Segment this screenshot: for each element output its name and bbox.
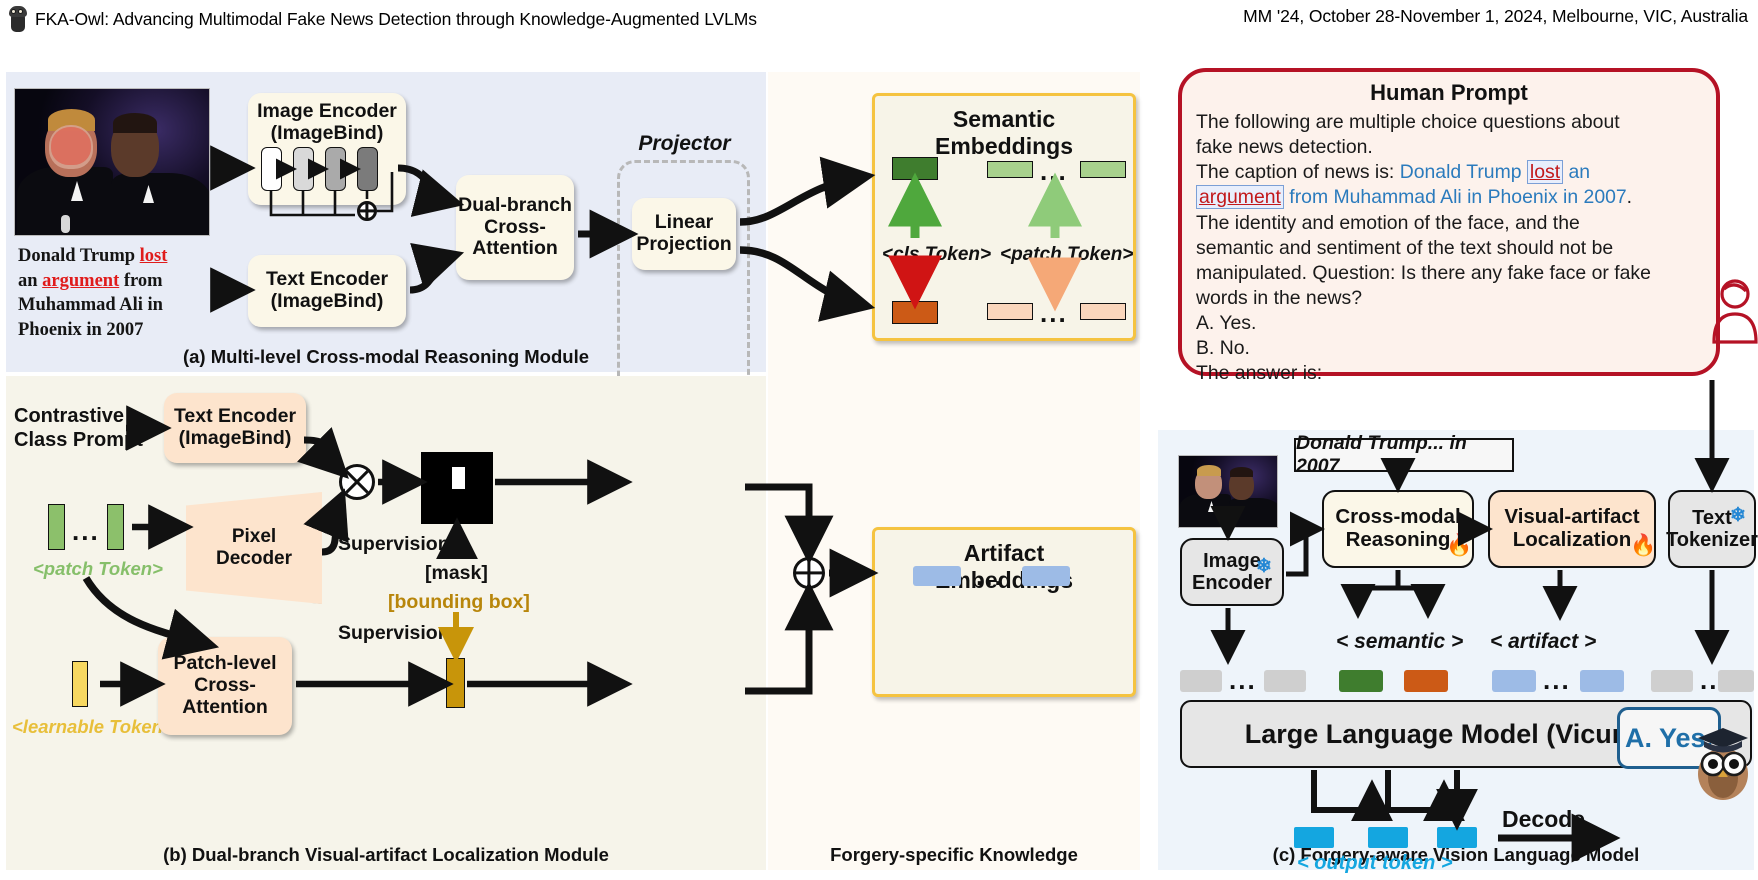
patch-cross-attn-label-2: Cross- xyxy=(194,675,256,697)
patch-token-peach-2 xyxy=(1080,303,1126,320)
encoder-block-2 xyxy=(293,147,314,191)
artifact-tokens-dots: ... xyxy=(1543,667,1571,693)
human-avatar-icon xyxy=(1712,278,1758,344)
patch-token-label-b: <patch Token> xyxy=(33,558,163,580)
flame-icon-visual-artifact: 🔥 xyxy=(1630,535,1656,556)
panel-b-caption: (b) Dual-branch Visual-artifact Localiza… xyxy=(6,844,766,866)
patch-token-green-1 xyxy=(987,161,1033,178)
graduate-owl-icon xyxy=(1690,716,1756,802)
prompt-line-5: The identity and emotion of the face, an… xyxy=(1196,212,1580,234)
prompt-line-2: fake news detection. xyxy=(1196,136,1373,158)
semantic-token-orange xyxy=(1404,670,1448,692)
multiply-circle-icon xyxy=(339,464,375,500)
image-token-1 xyxy=(1180,670,1222,692)
snowflake-icon-image-encoder: ❄ xyxy=(1256,557,1272,576)
prompt-answer-line: The answer is: xyxy=(1196,362,1322,384)
decode-label: Decode xyxy=(1502,806,1585,833)
learnable-token xyxy=(72,661,88,707)
prompt-line-8: words in the news? xyxy=(1196,287,1362,309)
paper-header: FKA-Owl: Advancing Multimodal Fake News … xyxy=(0,0,1758,40)
semantic-patch-dots-top: ... xyxy=(1040,158,1068,184)
learnable-token-label: <learnable Token> xyxy=(12,716,174,738)
text-encoder-label-1: Text Encoder xyxy=(266,269,388,291)
mask-image xyxy=(421,452,493,524)
patch-cross-attn-label-1: Patch-level xyxy=(174,653,277,675)
caption-line-2c: from xyxy=(119,271,162,291)
paper-title: FKA-Owl: Advancing Multimodal Fake News … xyxy=(35,9,757,30)
pixel-decoder-box[interactable]: Pixel Decoder xyxy=(186,492,322,604)
caption-line-2b: argument xyxy=(42,271,119,291)
bounding-box-token xyxy=(446,658,465,708)
semantic-embeddings-title: Semantic Embeddings xyxy=(875,106,1133,160)
venue-info: MM '24, October 28-November 1, 2024, Mel… xyxy=(1243,6,1748,27)
cross-modal-label-1: Cross-modal xyxy=(1335,506,1460,529)
human-prompt-title: Human Prompt xyxy=(1182,80,1716,106)
prompt-line-4-blue: from Muhammad Ali in Phoenix in 2007 xyxy=(1284,186,1627,208)
semantic-token-green xyxy=(1339,670,1383,692)
encoder-block-3 xyxy=(325,147,346,191)
patch-token-label: <patch Token> xyxy=(1000,244,1133,266)
text-encoder-label-2: (ImageBind) xyxy=(271,291,384,313)
text-encoder-box[interactable]: Text Encoder (ImageBind) xyxy=(248,255,406,327)
human-prompt-body: The following are multiple choice questi… xyxy=(1196,110,1708,386)
artifact-token-1 xyxy=(913,566,961,586)
encoder-block-1 xyxy=(261,147,282,191)
snowflake-icon-tokenizer: ❄ xyxy=(1730,506,1746,525)
caption-line-1b: lost xyxy=(140,246,168,266)
artifact-dots: ... xyxy=(976,563,1004,589)
cls-token-label: <cls Token> xyxy=(882,244,991,266)
supervision-mask-label: Supervision xyxy=(338,533,450,556)
caption-line-1a: Donald Trump xyxy=(18,246,140,266)
text-token-1 xyxy=(1651,670,1693,692)
artifact-embeddings-box: Artifact Embeddings xyxy=(872,527,1136,697)
semantic-label-c: < semantic > xyxy=(1336,630,1463,654)
image-tokens-dots: ... xyxy=(1229,667,1257,693)
prompt-line-3-blue: Donald Trump xyxy=(1400,161,1527,183)
prompt-line-7: manipulated. Question: Is there any fake… xyxy=(1196,262,1651,284)
image-encoder-label-2: (ImageBind) xyxy=(271,123,384,145)
artifact-label-c: < artifact > xyxy=(1490,630,1596,654)
patch-token-b-2 xyxy=(107,504,124,550)
output-token-1 xyxy=(1294,827,1334,848)
dual-branch-label-1: Dual-branch xyxy=(458,195,572,217)
artifact-token-c-2 xyxy=(1580,670,1624,692)
text-tokenizer-label-1: Text xyxy=(1692,507,1732,529)
text-tokenizer-box[interactable]: Text Tokenizer ❄ xyxy=(1668,490,1756,568)
caption-line-4: Phoenix in 2007 xyxy=(18,318,218,343)
dual-branch-label-3: Attention xyxy=(472,238,558,260)
visual-artifact-localization-box[interactable]: Visual-artifact Localization 🔥 xyxy=(1488,490,1656,568)
text-tokenizer-label-2: Tokenizer xyxy=(1666,529,1758,551)
patch-token-peach-1 xyxy=(987,303,1033,320)
visual-artifact-label-1: Visual-artifact xyxy=(1504,506,1639,529)
patch-cross-attn-label-3: Attention xyxy=(182,697,268,719)
middle-panel-caption: Forgery-specific Knowledge xyxy=(768,844,1140,866)
bounding-box-label: [bounding box] xyxy=(388,591,530,614)
caption-text-box: Donald Trump... in 2007 xyxy=(1294,438,1514,472)
prompt-option-a: A. Yes. xyxy=(1196,312,1256,334)
linear-projection-label-2: Projection xyxy=(636,234,731,256)
artifact-token-c-1 xyxy=(1492,670,1536,692)
news-photo xyxy=(14,88,210,236)
prompt-line-3-prefix: The caption of news is: xyxy=(1196,161,1400,183)
text-encoder-b-label-2: (ImageBind) xyxy=(179,428,292,450)
semantic-patch-dots-bottom: ... xyxy=(1040,300,1068,326)
text-encoder-b-label-1: Text Encoder xyxy=(174,406,296,428)
supervision-bbox-label: Supervision xyxy=(338,622,450,645)
prompt-option-b: B. No. xyxy=(1196,337,1250,359)
prompt-line-6: semantic and sentiment of the text shoul… xyxy=(1196,237,1613,259)
output-token-2 xyxy=(1368,827,1408,848)
output-token-3 xyxy=(1437,827,1477,848)
patch-token-green-2 xyxy=(1080,161,1126,178)
cls-token-green xyxy=(892,157,938,180)
header-left-group: FKA-Owl: Advancing Multimodal Fake News … xyxy=(8,6,757,32)
pixel-decoder-label-1: Pixel xyxy=(232,526,276,548)
linear-projection-box[interactable]: Linear Projection xyxy=(632,198,736,270)
plus-circle-icon xyxy=(357,201,377,221)
text-token-2 xyxy=(1718,670,1754,692)
patch-level-cross-attention-box[interactable]: Patch-level Cross- Attention xyxy=(158,637,292,735)
image-encoder-c-label-1: Image xyxy=(1203,550,1261,572)
prompt-highlight-lost: lost xyxy=(1527,160,1563,184)
artifact-token-2 xyxy=(1022,566,1070,586)
artifact-plus-circle-icon xyxy=(793,557,825,589)
dual-branch-label-2: Cross- xyxy=(484,217,546,239)
cls-token-orange xyxy=(892,301,938,324)
patch-token-b-dots: ... xyxy=(72,518,100,544)
owl-icon xyxy=(8,6,28,32)
patch-token-b-1 xyxy=(48,504,65,550)
image-encoder-box-c[interactable]: Image Encoder ❄ xyxy=(1180,538,1284,606)
contrastive-class-prompt-label: Contrastive Class Prompt xyxy=(14,404,143,452)
dual-branch-cross-attention-box[interactable]: Dual-branch Cross- Attention xyxy=(456,175,574,280)
prompt-line-3-blue2: an xyxy=(1563,161,1590,183)
pixel-decoder-label-2: Decoder xyxy=(216,548,292,570)
mask-label: [mask] xyxy=(425,562,488,585)
flame-icon-cross-modal: 🔥 xyxy=(1446,535,1472,556)
prompt-line-1: The following are multiple choice questi… xyxy=(1196,111,1620,133)
text-encoder-box-b[interactable]: Text Encoder (ImageBind) xyxy=(164,393,306,463)
cross-modal-reasoning-box[interactable]: Cross-modal Reasoning 🔥 xyxy=(1322,490,1474,568)
linear-projection-label-1: Linear xyxy=(655,212,714,234)
news-photo-small xyxy=(1178,455,1278,528)
news-caption-text: Donald Trump lost an argument from Muham… xyxy=(18,244,218,342)
output-token-label: < output token > xyxy=(1297,852,1453,875)
caption-line-3: Muhammad Ali in xyxy=(18,293,218,318)
image-encoder-label-1: Image Encoder xyxy=(257,101,397,123)
prompt-highlight-argument: argument xyxy=(1196,185,1284,209)
cross-modal-label-2: Reasoning xyxy=(1346,529,1451,552)
visual-artifact-label-2: Localization xyxy=(1513,529,1631,552)
encoder-block-4 xyxy=(357,147,378,191)
human-prompt-bubble: Human Prompt The following are multiple … xyxy=(1178,68,1720,376)
projector-label: Projector xyxy=(612,132,757,156)
llm-label: Large Language Model (Vicuna) xyxy=(1245,719,1653,750)
caption-line-2a: an xyxy=(18,271,42,291)
image-token-2 xyxy=(1264,670,1306,692)
prompt-line-4-suffix: . xyxy=(1627,186,1632,208)
